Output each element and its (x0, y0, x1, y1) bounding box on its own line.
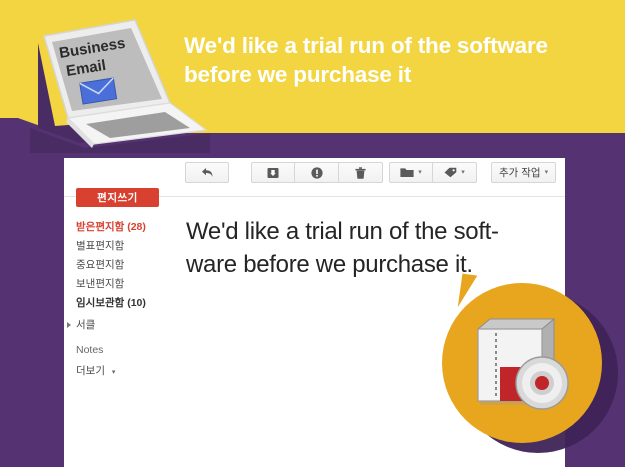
sidebar-item-more-label: 더보기 (76, 365, 105, 377)
badge-speech-tail (458, 274, 486, 311)
reply-button[interactable] (185, 162, 229, 183)
business-email-laptop-illustration: Business Email (10, 8, 210, 153)
archive-button[interactable] (251, 162, 295, 183)
screenshot-root: Business Email We'd like a trial run of … (0, 0, 625, 467)
sidebar-item-drafts[interactable]: 임시보관함 (10) (76, 294, 179, 313)
sidebar-item-inbox[interactable]: 받은편지함 (28) (76, 218, 179, 237)
labels-caret: ▾ (461, 169, 465, 176)
sidebar-item-notes[interactable]: Notes (76, 341, 179, 360)
page-title: We'd like a trial run of the software be… (184, 31, 614, 89)
sidebar-item-circles-label: 서클 (76, 319, 95, 331)
tag-icon (444, 167, 457, 178)
delete-button[interactable] (339, 162, 383, 183)
software-badge (436, 277, 625, 467)
compose-button[interactable]: 편지쓰기 (76, 188, 159, 207)
sidebar-item-more[interactable]: 더보기 ▾ (76, 362, 179, 381)
report-spam-button[interactable] (295, 162, 339, 183)
more-actions-caret: ▾ (545, 169, 549, 176)
message-subject: We'd like a trial run of the soft-ware b… (186, 215, 531, 281)
more-actions-label: 추가 작업 (499, 165, 541, 180)
mailbox-nav-list: 받은편지함 (28) 별표편지함 중요편지함 보낸편지함 임시보관함 (10) … (76, 218, 179, 381)
sidebar-item-starred[interactable]: 별표편지함 (76, 237, 179, 256)
reply-arrow-icon (201, 167, 214, 178)
software-box-with-disc-icon (470, 309, 578, 417)
sidebar-item-sent[interactable]: 보낸편지함 (76, 275, 179, 294)
trash-can-icon (355, 167, 366, 179)
sidebar-item-circles[interactable]: 서클 (76, 316, 179, 335)
more-caret-icon: ▾ (112, 369, 116, 376)
expand-triangle-icon (67, 322, 71, 328)
move-to-button[interactable]: ▾ (389, 162, 433, 183)
folder-icon (400, 167, 414, 178)
labels-button[interactable]: ▾ (433, 162, 477, 183)
exclamation-circle-icon (311, 167, 323, 179)
move-to-caret: ▾ (418, 169, 422, 176)
archive-box-icon (267, 167, 279, 179)
sidebar-item-important[interactable]: 중요편지함 (76, 256, 179, 275)
more-actions-button[interactable]: 추가 작업 ▾ (491, 162, 556, 183)
mail-sidebar: 편지쓰기 받은편지함 (28) 별표편지함 중요편지함 보낸편지함 임시보관함 … (64, 188, 179, 381)
